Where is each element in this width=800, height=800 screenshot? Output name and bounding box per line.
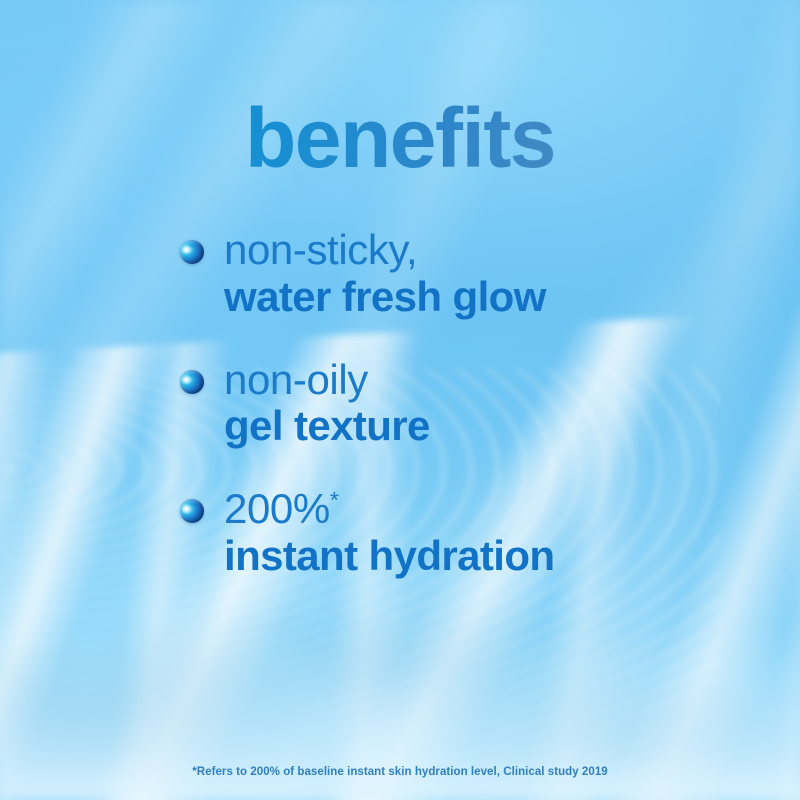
benefit-line-light: non-sticky, — [224, 228, 736, 273]
list-item: 200%* instant hydration — [176, 487, 736, 579]
footnote-asterisk-marker: * — [330, 487, 339, 513]
water-droplet-bullet-icon — [180, 499, 204, 523]
water-droplet-bullet-icon — [180, 370, 204, 394]
benefit-percentage-value: 200% — [224, 485, 330, 532]
page-title: benefits — [0, 96, 800, 180]
benefits-poster: benefits non-sticky, water fresh glow no… — [0, 0, 800, 800]
footnote-disclaimer: *Refers to 200% of baseline instant skin… — [0, 766, 800, 778]
benefit-line-light: non-oily — [224, 358, 736, 403]
poster-content: benefits non-sticky, water fresh glow no… — [0, 0, 800, 800]
benefit-line-bold: water fresh glow — [224, 273, 736, 320]
water-droplet-bullet-icon — [180, 240, 204, 264]
benefit-line-bold: gel texture — [224, 402, 736, 449]
benefit-line-light: 200%* — [224, 487, 736, 532]
list-item: non-oily gel texture — [176, 358, 736, 450]
benefit-line-bold: instant hydration — [224, 532, 736, 579]
list-item: non-sticky, water fresh glow — [176, 228, 736, 320]
benefits-list: non-sticky, water fresh glow non-oily ge… — [176, 228, 736, 579]
